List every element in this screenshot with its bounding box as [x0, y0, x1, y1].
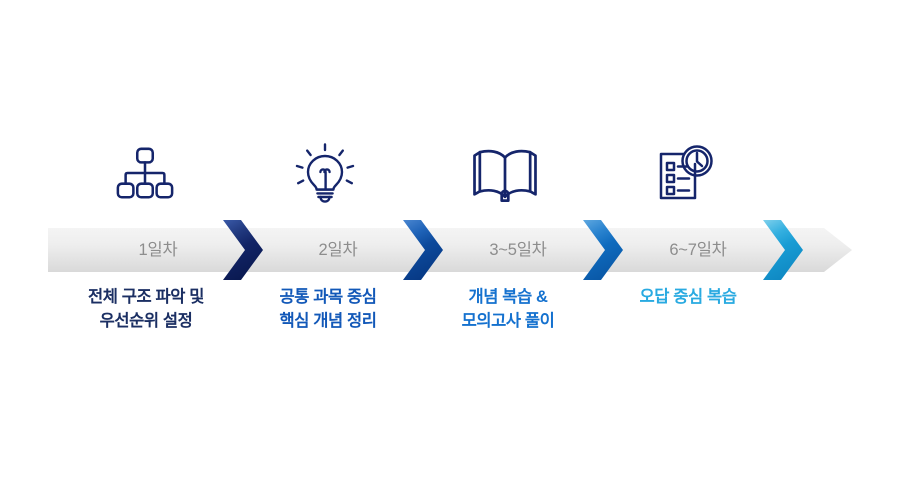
caption-step-3: 개념 복습 & 모의고사 풀이: [408, 285, 608, 333]
chevron-step-2-to-3: [400, 220, 446, 280]
chevron-step-4-end: [760, 220, 806, 280]
caption-row: 전체 구조 파악 및 우선순위 설정 공통 과목 중심 핵심 개념 정리 개념 …: [48, 285, 852, 345]
org-chart-icon: [100, 128, 190, 220]
open-book-icon: [460, 128, 550, 220]
caption-step-1: 전체 구조 파악 및 우선순위 설정: [46, 285, 246, 333]
icon-row: [48, 128, 852, 220]
lightbulb-icon: [280, 128, 370, 220]
caption-step-2: 공통 과목 중심 핵심 개념 정리: [228, 285, 428, 333]
day-label-step-3: 3~5일차: [438, 228, 598, 272]
timeline-bar: 1일차 2일차 3~5일차 6~7일차: [48, 228, 852, 272]
day-label-step-2: 2일차: [258, 228, 418, 272]
checklist-clock-icon: [640, 128, 730, 220]
day-label-step-1: 1일차: [78, 228, 238, 272]
chevron-step-3-to-4: [580, 220, 626, 280]
caption-step-4: 오답 중심 복습: [588, 285, 788, 309]
chevron-step-1-to-2: [220, 220, 266, 280]
day-label-step-4: 6~7일차: [618, 228, 778, 272]
study-plan-timeline-infographic: 1일차 2일차 3~5일차 6~7일차: [0, 0, 900, 500]
